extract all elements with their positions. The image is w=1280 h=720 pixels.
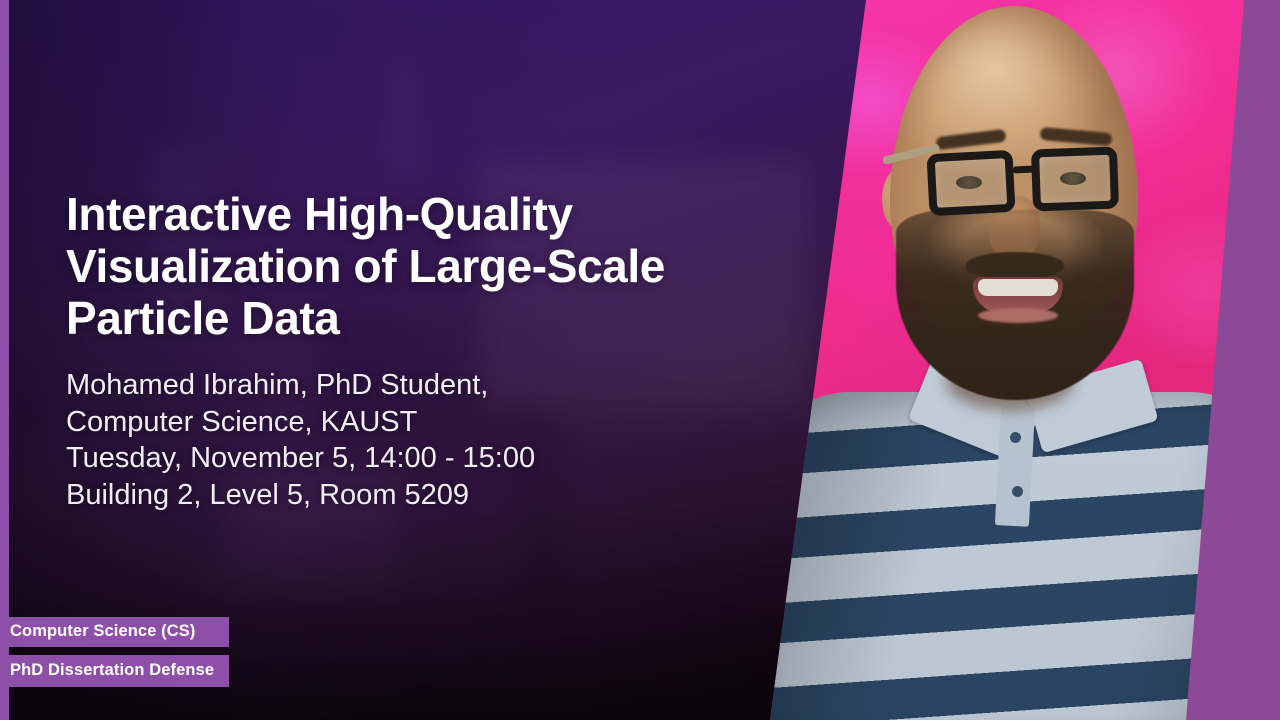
affiliation-line: Computer Science, KAUST	[66, 404, 706, 441]
title-line-2: Visualization of Large-Scale	[66, 240, 766, 292]
status-badge-event-type: PhD Dissertation Defense	[0, 655, 229, 687]
location-line: Building 2, Level 5, Room 5209	[66, 477, 706, 514]
title-line-3: Particle Data	[66, 292, 766, 344]
event-details: Mohamed Ibrahim, PhD Student, Computer S…	[66, 367, 706, 513]
title-line-1: Interactive High-Quality	[66, 188, 766, 240]
event-announcement-slide: Interactive High-Quality Visualization o…	[0, 0, 1280, 720]
page-title: Interactive High-Quality Visualization o…	[66, 188, 766, 344]
badge-group: Computer Science (CS) PhD Dissertation D…	[0, 617, 229, 687]
status-badge-department: Computer Science (CS)	[0, 617, 229, 647]
speaker-line: Mohamed Ibrahim, PhD Student,	[66, 367, 706, 404]
datetime-line: Tuesday, November 5, 14:00 - 15:00	[66, 440, 706, 477]
left-accent-stripe	[0, 0, 9, 720]
